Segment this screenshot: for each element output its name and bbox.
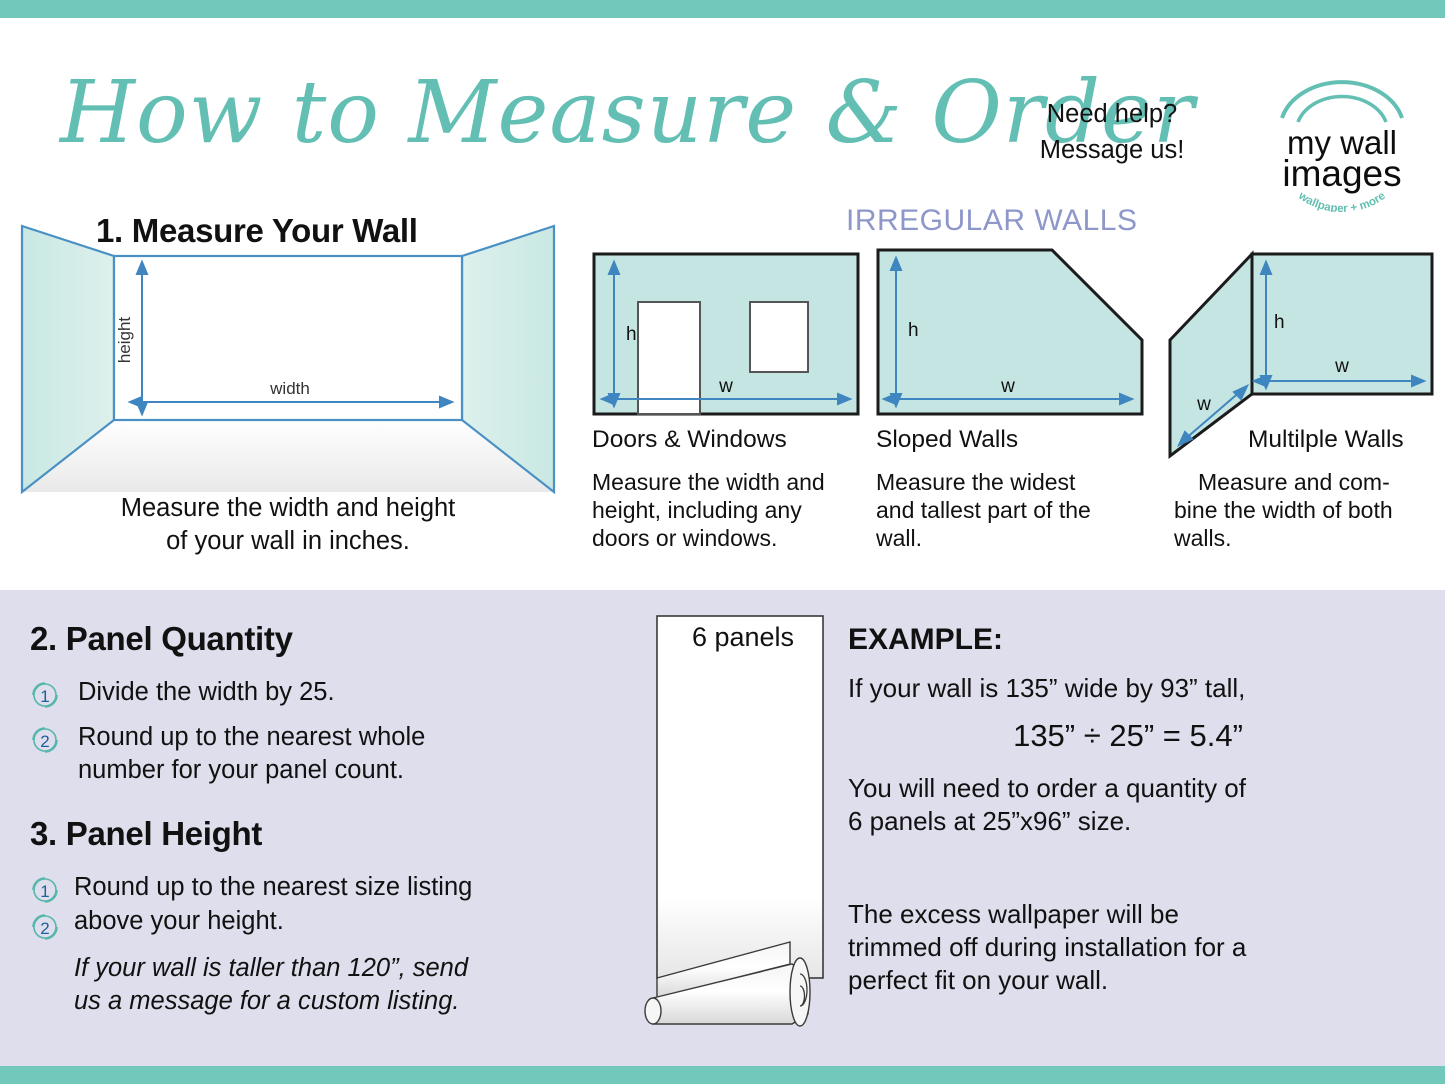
card-title-sloped-walls: Sloped Walls bbox=[876, 426, 1018, 454]
label-w: w bbox=[1334, 356, 1349, 377]
need-help-block: Need help? Message us! bbox=[1012, 96, 1212, 168]
infographic-page: How to Measure & Order Need help? Messag… bbox=[0, 0, 1445, 1084]
need-help-line1: Need help? bbox=[1012, 96, 1212, 132]
example-equation: 135” ÷ 25” = 5.4” bbox=[848, 718, 1408, 754]
roll-panel-count: 6 panels bbox=[657, 622, 829, 653]
sloped-walls-line1: Measure the widest bbox=[876, 468, 1148, 496]
label-w: w bbox=[1196, 394, 1211, 415]
multiple-walls-line3: walls. bbox=[1174, 524, 1440, 552]
room-diagram: height width bbox=[14, 212, 562, 502]
card-title-multiple-walls: Multilple Walls bbox=[1248, 426, 1404, 454]
example-line2: You will need to order a quantity of bbox=[848, 772, 1408, 805]
logo-line-2: images bbox=[1282, 153, 1401, 194]
label-w: w bbox=[1000, 376, 1015, 397]
step3-heading: 3. Panel Height bbox=[30, 815, 262, 853]
example-line5: trimmed off during installation for a bbox=[848, 931, 1408, 964]
step2-item2-line1: Round up to the nearest whole bbox=[78, 721, 425, 754]
number-badge-1-text: 1 bbox=[40, 687, 49, 706]
panels-section: 2. Panel Quantity 1 Divide the width by … bbox=[0, 590, 1445, 1066]
label-w: w bbox=[718, 376, 733, 397]
label-height: height bbox=[115, 317, 134, 364]
step3-item1-line2: above your height. bbox=[74, 905, 284, 938]
measure-section: height width 1. Measure Your Wall Measur… bbox=[0, 190, 1445, 590]
card-body-doors-windows: Measure the width and height, including … bbox=[592, 468, 864, 552]
need-help-line2: Message us! bbox=[1012, 132, 1212, 168]
number-badge-2-text: 2 bbox=[40, 732, 49, 751]
room-caption-line1: Measure the width and height bbox=[14, 492, 562, 525]
step2-item2-line2: number for your panel count. bbox=[78, 754, 404, 787]
doors-windows-line1: Measure the width and bbox=[592, 468, 864, 496]
label-h: h bbox=[626, 324, 637, 345]
wallpaper-roll-illustration bbox=[640, 612, 840, 1036]
number-badge-2-text: 2 bbox=[40, 919, 49, 938]
number-badge-2-icon: 2 bbox=[28, 723, 62, 757]
card-body-sloped-walls: Measure the widest and tallest part of t… bbox=[876, 468, 1148, 552]
header: How to Measure & Order Need help? Messag… bbox=[0, 18, 1445, 190]
page-title: How to Measure & Order bbox=[60, 56, 990, 176]
number-badge-1-text: 1 bbox=[40, 882, 49, 901]
bottom-accent-bar bbox=[0, 1066, 1445, 1084]
irregular-walls-heading: IRREGULAR WALLS bbox=[846, 204, 1137, 238]
example-line1: If your wall is 135” wide by 93” tall, bbox=[848, 672, 1408, 705]
step3-note-line1: If your wall is taller than 120”, send bbox=[74, 952, 468, 985]
step1-heading: 1. Measure Your Wall bbox=[96, 212, 418, 250]
number-badge-2-icon: 2 bbox=[28, 910, 62, 944]
example-line6: perfect fit on your wall. bbox=[848, 964, 1408, 997]
sloped-walls-line2: and tallest part of the bbox=[876, 496, 1148, 524]
card-body-multiple-walls: Measure and com- bine the width of both … bbox=[1190, 468, 1440, 552]
step3-item1-line1: Round up to the nearest size listing bbox=[74, 871, 472, 904]
step3-note-line2: us a message for a custom listing. bbox=[74, 985, 460, 1018]
diagram-sloped-wall: h w bbox=[876, 248, 1144, 416]
example-line3: 6 panels at 25”x96” size. bbox=[848, 805, 1408, 838]
example-line4: The excess wallpaper will be bbox=[848, 898, 1408, 931]
multiple-walls-line2: bine the width of both bbox=[1174, 496, 1440, 524]
diagram-doors-windows: h w bbox=[592, 252, 860, 416]
doors-windows-line2: height, including any bbox=[592, 496, 864, 524]
example-heading: EXAMPLE: bbox=[848, 623, 1003, 657]
label-h: h bbox=[908, 320, 919, 341]
number-badge-1-icon: 1 bbox=[28, 873, 62, 907]
card-title-doors-windows: Doors & Windows bbox=[592, 426, 787, 454]
room-caption-line2: of your wall in inches. bbox=[14, 525, 562, 558]
sloped-walls-line3: wall. bbox=[876, 524, 1148, 552]
label-h: h bbox=[1274, 312, 1285, 333]
number-badge-1-icon: 1 bbox=[28, 678, 62, 712]
step2-heading: 2. Panel Quantity bbox=[30, 620, 293, 658]
top-accent-bar bbox=[0, 0, 1445, 18]
multiple-walls-line1: Measure and com- bbox=[1190, 468, 1440, 496]
label-width: width bbox=[269, 379, 310, 398]
room-caption: Measure the width and height of your wal… bbox=[14, 492, 562, 558]
doors-windows-line3: doors or windows. bbox=[592, 524, 864, 552]
step2-item1-line1: Divide the width by 25. bbox=[78, 676, 335, 709]
